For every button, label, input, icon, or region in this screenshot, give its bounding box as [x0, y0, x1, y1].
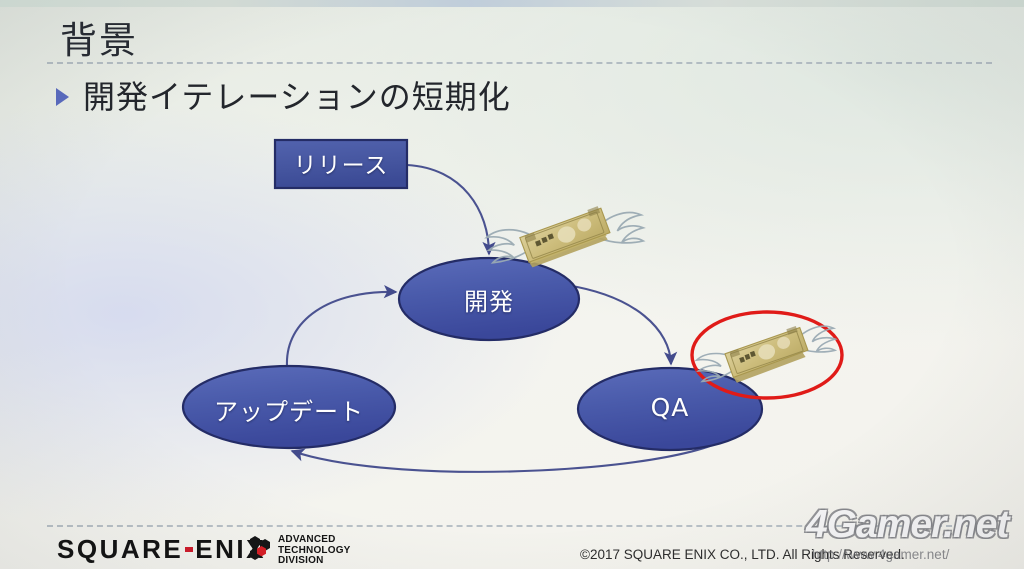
node-dev — [399, 258, 579, 340]
edge-dev-to-qa — [566, 285, 671, 364]
cycle-diagram — [0, 0, 1024, 569]
hexagon-cluster-icon — [248, 535, 274, 561]
brand-dot-icon — [185, 547, 193, 552]
division-line-3: DIVISION — [278, 556, 351, 567]
advanced-technology-division-logo: ADVANCED TECHNOLOGY DIVISION — [248, 535, 351, 567]
node-qa — [578, 368, 762, 450]
copyright-text: ©2017 SQUARE ENIX CO., LTD. All Rights R… — [580, 547, 905, 562]
division-line-1: ADVANCED — [278, 535, 351, 546]
square-enix-logo: SQUAREENIX — [57, 536, 266, 562]
edge-release-to-dev — [407, 165, 489, 254]
presentation-slide: 背景 開発イテレーションの短期化 — [0, 0, 1024, 569]
brand-part-1: SQUARE — [57, 534, 183, 564]
edge-update-to-dev — [287, 292, 396, 366]
flying-money-icon-2 — [694, 320, 840, 389]
node-update — [183, 366, 395, 448]
node-release — [275, 140, 407, 188]
